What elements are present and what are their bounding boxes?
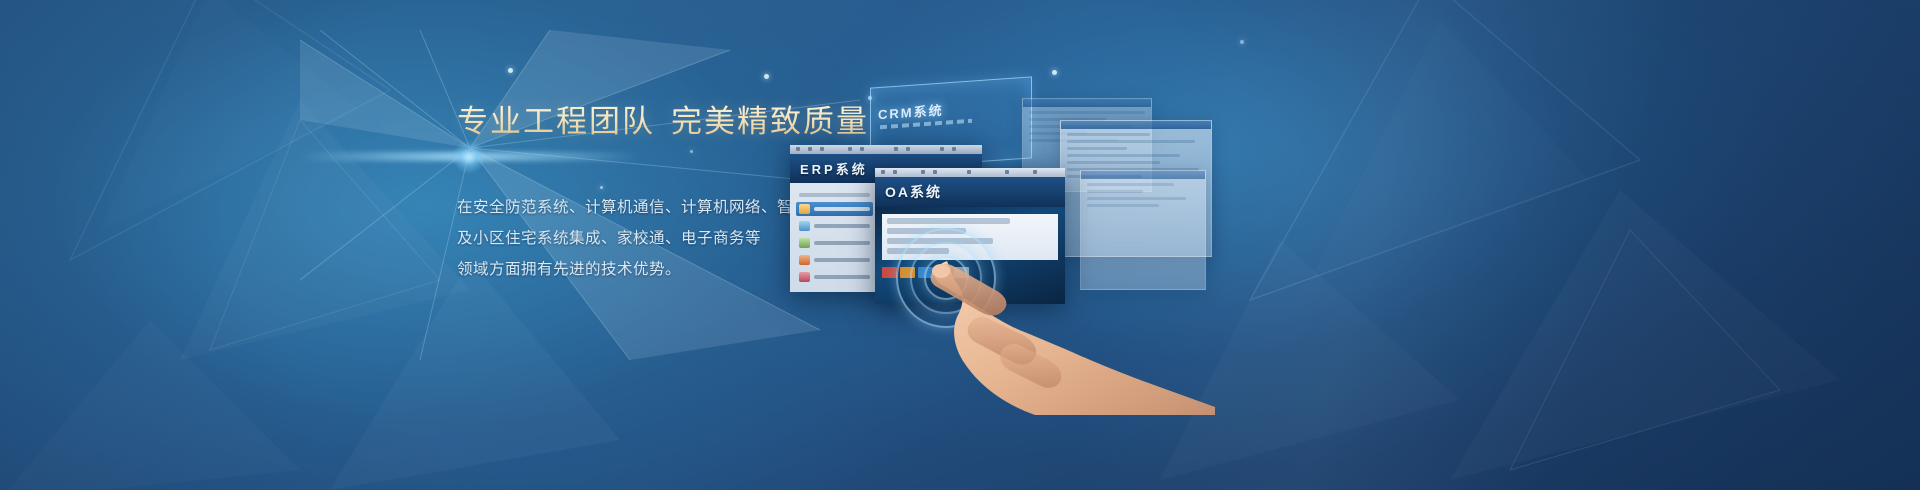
hero-banner: 专业工程团队完美精致质量 在安全防范系统、计算机通信、计算机网络、智能大厦 及小…: [0, 0, 1920, 490]
folder-icon: [799, 204, 810, 214]
pointing-hand: [915, 215, 1215, 415]
nav-item[interactable]: [796, 236, 873, 250]
nav-item[interactable]: [796, 270, 873, 284]
report-icon: [799, 255, 810, 265]
grid-icon: [799, 272, 810, 282]
polygon-decoration: [330, 250, 630, 490]
settings-icon: [799, 221, 810, 231]
nav-header: [796, 191, 873, 199]
polygon-decoration: [1450, 170, 1850, 490]
window-oa-title: OA系统: [875, 177, 1065, 207]
chip-red: [882, 267, 897, 278]
window-toolbar: [790, 145, 982, 154]
sparkle-dot: [508, 68, 513, 73]
polygon-decoration: [0, 300, 320, 490]
nav-item[interactable]: [796, 202, 873, 216]
headline-left: 专业工程团队: [457, 104, 655, 139]
list-icon: [799, 238, 810, 248]
window-toolbar: [875, 168, 1065, 177]
nav-item[interactable]: [796, 219, 873, 233]
nav-item[interactable]: [796, 253, 873, 267]
window-erp-nav[interactable]: [790, 183, 879, 292]
